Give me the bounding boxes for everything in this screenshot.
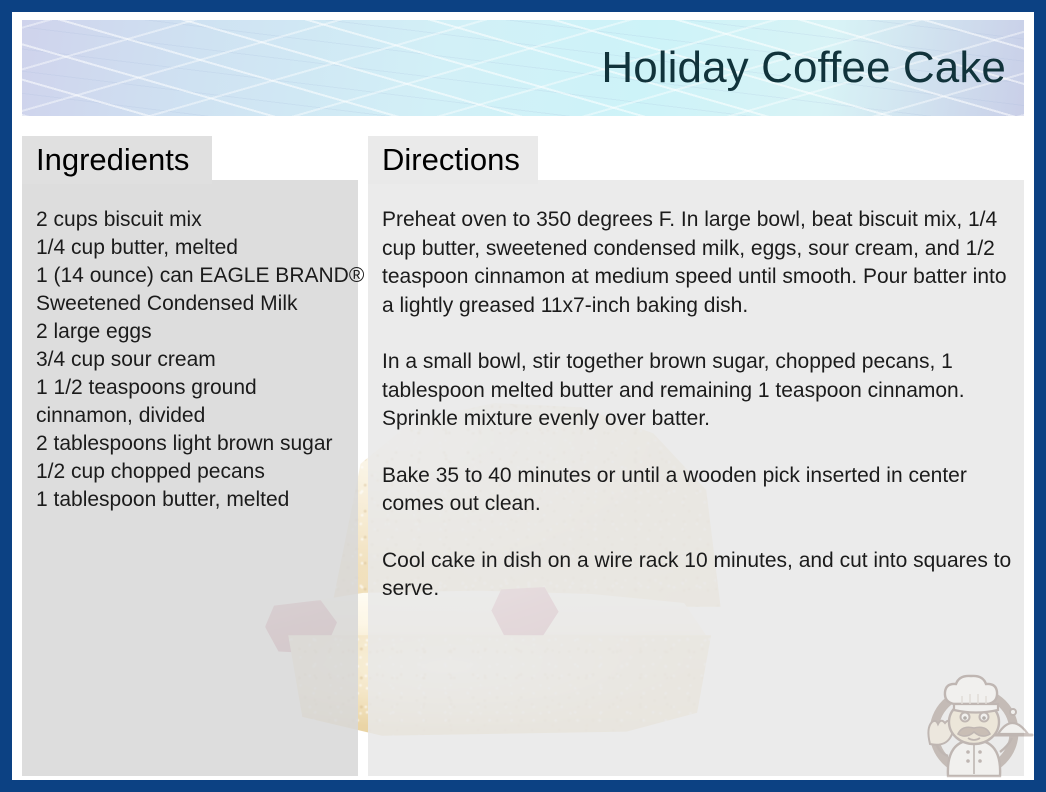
ingredient-line: 1 1/2 teaspoons ground — [36, 374, 362, 402]
ingredient-line: 2 tablespoons light brown sugar — [36, 430, 362, 458]
ingredient-line: 2 cups biscuit mix — [36, 206, 362, 234]
ingredient-line: cinnamon, divided — [36, 402, 362, 430]
ingredients-heading-tab: Ingredients — [22, 136, 212, 184]
chef-toque-icon — [945, 676, 998, 713]
ingredient-line: 1/2 cup chopped pecans — [36, 458, 362, 486]
page-title: Holiday Coffee Cake — [601, 38, 1006, 98]
directions-paragraph: Cool cake in dish on a wire rack 10 minu… — [382, 547, 1020, 604]
ingredient-line: 2 large eggs — [36, 318, 362, 346]
ingredient-line: 1 (14 ounce) can EAGLE BRAND® — [36, 262, 362, 290]
directions-paragraph: Bake 35 to 40 minutes or until a wooden … — [382, 462, 1020, 519]
ingredient-line: Sweetened Condensed Milk — [36, 290, 362, 318]
directions-heading-label: Directions — [368, 143, 520, 177]
directions-paragraph: In a small bowl, stir together brown sug… — [382, 348, 1020, 434]
ingredients-list: 2 cups biscuit mix 1/4 cup butter, melte… — [22, 192, 368, 514]
recipe-card: Holiday Coffee Cake Ingredients Directio… — [12, 12, 1034, 780]
header-banner: Holiday Coffee Cake — [22, 20, 1024, 116]
ingredient-line: 3/4 cup sour cream — [36, 346, 362, 374]
chef-mascot-icon — [912, 660, 1034, 780]
ingredients-heading-label: Ingredients — [22, 143, 189, 177]
ingredient-line: 1 tablespoon butter, melted — [36, 486, 362, 514]
directions-heading-tab: Directions — [368, 136, 538, 184]
ingredient-line: 1/4 cup butter, melted — [36, 234, 362, 262]
directions-paragraph: Preheat oven to 350 degrees F. In large … — [382, 206, 1020, 320]
directions-body: Preheat oven to 350 degrees F. In large … — [368, 192, 1032, 632]
